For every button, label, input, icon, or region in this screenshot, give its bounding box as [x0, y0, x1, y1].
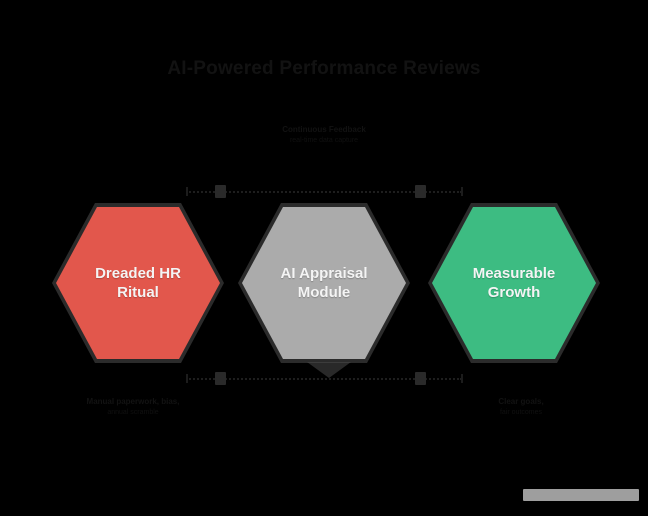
hex-label-center-line1: AI Appraisal [281, 265, 368, 282]
rail-tick-bottom-left [186, 374, 188, 383]
node-marker-bottom-right [415, 372, 426, 385]
annotation-bottom-left-heading: Manual paperwork, bias, [87, 397, 180, 406]
page-title: AI-Powered Performance Reviews [0, 58, 648, 80]
annotation-bottom-right-heading: Clear goals, [498, 397, 543, 406]
watermark-bar: watermark-bar [523, 489, 639, 501]
hex-label-center: AI Appraisal Module [264, 264, 384, 303]
node-marker-top-right [415, 185, 426, 198]
annotation-bottom-left: Manual paperwork, bias, annual scramble [68, 396, 198, 418]
rail-tick-top-left [186, 187, 188, 196]
hex-node-dreaded-hr-ritual[interactable]: Dreaded HR Ritual [52, 203, 224, 363]
annotation-top: Continuous Feedback real-time data captu… [252, 124, 396, 146]
hex-label-right-line1: Measurable [473, 265, 556, 282]
hex-node-measurable-growth[interactable]: Measurable Growth [428, 203, 600, 363]
node-marker-top-left [215, 185, 226, 198]
annotation-bottom-right: Clear goals, fair outcomes [456, 396, 586, 418]
rail-tick-top-right [461, 187, 463, 196]
hex-label-center-line2: Module [298, 284, 351, 301]
hex-label-left-line2: Ritual [117, 284, 159, 301]
node-marker-bottom-left [215, 372, 226, 385]
annotation-top-sub: real-time data capture [252, 136, 396, 146]
annotation-bottom-left-sub: annual scramble [68, 408, 198, 418]
rail-caret-icon [307, 362, 351, 378]
hex-label-left-line1: Dreaded HR [95, 265, 181, 282]
rail-tick-bottom-right [461, 374, 463, 383]
annotation-bottom-right-sub: fair outcomes [456, 408, 586, 418]
hex-label-left: Dreaded HR Ritual [78, 264, 198, 303]
hex-node-ai-appraisal-module[interactable]: AI Appraisal Module [238, 203, 410, 363]
hex-label-right: Measurable Growth [454, 264, 574, 303]
hex-label-right-line2: Growth [488, 284, 541, 301]
annotation-top-heading: Continuous Feedback [282, 125, 366, 134]
diagram-canvas: AI-Powered Performance Reviews Continuou… [0, 0, 648, 516]
